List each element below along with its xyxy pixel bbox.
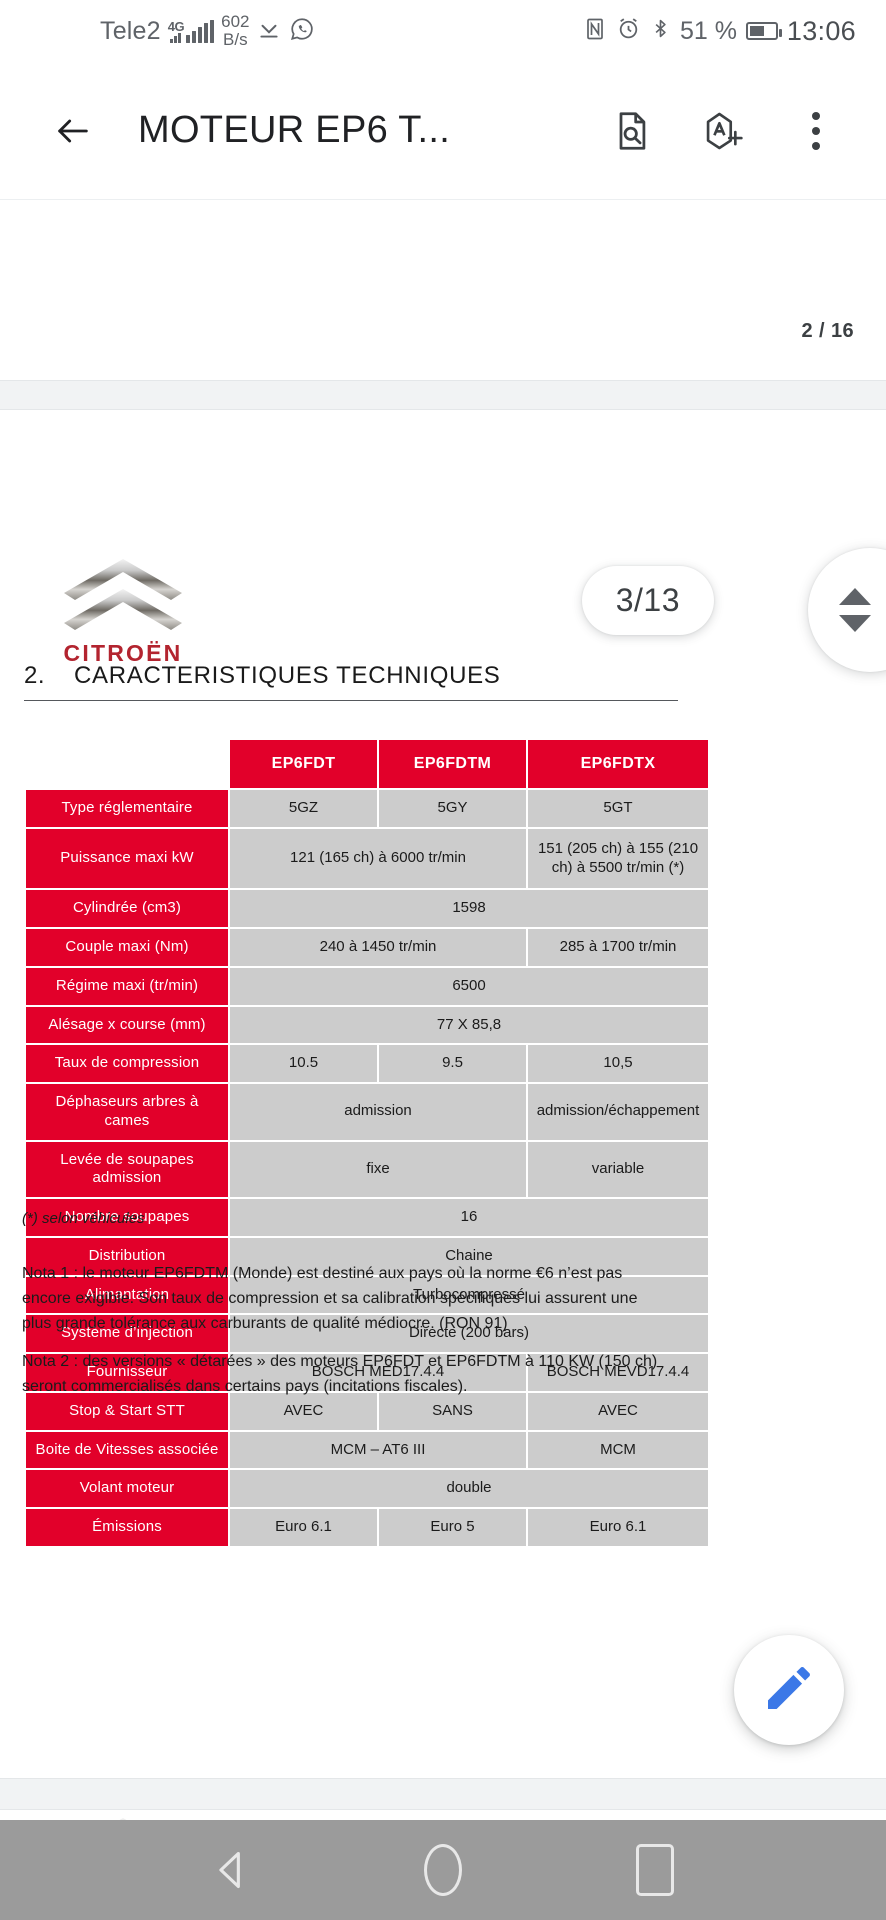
table-header-blank: [26, 740, 228, 788]
nota-1-text: Nota 1 : le moteur EP6FDTM (Monde) est d…: [22, 1262, 662, 1336]
whatsapp-icon: [289, 16, 315, 47]
table-cell: 6500: [230, 968, 708, 1005]
status-bar: Tele2 4G 602 B/s: [0, 0, 886, 62]
page-separator: [0, 380, 886, 410]
nav-back-triangle-icon[interactable]: [201, 1840, 261, 1900]
status-bar-left: Tele2 4G 602 B/s: [100, 13, 315, 49]
table-row: Cylindrée (cm3)1598: [26, 890, 708, 927]
status-bar-right: 51 % 13:06: [583, 15, 856, 47]
table-row-label: Volant moteur: [26, 1470, 228, 1507]
table-footnote: (*) selon véhicules: [22, 1210, 145, 1227]
edit-fab-button[interactable]: [734, 1635, 844, 1745]
page-title: MOTEUR EP6 T...: [138, 109, 606, 152]
table-cell: 240 à 1450 tr/min: [230, 929, 526, 966]
signal-strength-icon: 4G: [168, 20, 214, 43]
pdf-viewer[interactable]: 2 / 16 CITROËN: [0, 200, 886, 1920]
table-cell: admission/échappement: [528, 1084, 708, 1140]
citroen-logo: CITROËN: [58, 555, 188, 667]
table-header-ep6fdtx: EP6FDTX: [528, 740, 708, 788]
network-type-label: 4G: [168, 20, 184, 33]
page-separator-bottom: [0, 1778, 886, 1810]
android-navigation-bar: [0, 1820, 886, 1920]
data-rate-unit: B/s: [223, 31, 248, 49]
table-cell: double: [230, 1470, 708, 1507]
table-cell: admission: [230, 1084, 526, 1140]
bookmark-add-icon[interactable]: [698, 105, 750, 157]
previous-page-tail: 2 / 16: [0, 200, 886, 380]
app-bar-actions: [606, 105, 842, 157]
nav-recents-square-icon[interactable]: [625, 1840, 685, 1900]
bluetooth-icon: [650, 15, 671, 47]
table-cell: MCM: [528, 1432, 708, 1469]
table-cell: Euro 6.1: [528, 1509, 708, 1546]
phone-screen: Tele2 4G 602 B/s: [0, 0, 886, 1920]
document-search-icon[interactable]: [606, 105, 658, 157]
nota-2-text: Nota 2 : des versions « détarées » des m…: [22, 1350, 662, 1400]
app-bar: MOTEUR EP6 T...: [0, 62, 886, 200]
table-cell: 77 X 85,8: [230, 1007, 708, 1044]
table-row-label: Émissions: [26, 1509, 228, 1546]
section-title: CARACTERISTIQUES TECHNIQUES: [74, 662, 501, 690]
table-row: Régime maxi (tr/min)6500: [26, 968, 708, 1005]
battery-percent-label: 51 %: [680, 17, 737, 46]
table-row: Boite de Vitesses associéeMCM – AT6 IIIM…: [26, 1432, 708, 1469]
table-cell: 5GT: [528, 790, 708, 827]
table-cell: variable: [528, 1142, 708, 1198]
table-row-label: Boite de Vitesses associée: [26, 1432, 228, 1469]
table-row-label: Levée de soupapes admission: [26, 1142, 228, 1198]
page-number-badge: 3/13: [582, 566, 714, 635]
table-header-row: EP6FDTEP6FDTMEP6FDTX: [26, 740, 708, 788]
download-icon: [256, 16, 282, 47]
table-row-label: Régime maxi (tr/min): [26, 968, 228, 1005]
previous-page-counter: 2 / 16: [802, 320, 854, 343]
table-row: Puissance maxi kW121 (165 ch) à 6000 tr/…: [26, 829, 708, 889]
overflow-menu-icon[interactable]: [790, 105, 842, 157]
table-cell: 5GY: [379, 790, 526, 827]
section-number: 2.: [24, 662, 74, 690]
table-row-label: Couple maxi (Nm): [26, 929, 228, 966]
carrier-label: Tele2: [100, 17, 161, 46]
section-heading: 2. CARACTERISTIQUES TECHNIQUES: [24, 662, 678, 701]
battery-icon: [746, 22, 778, 40]
edit-pencil-icon: [761, 1660, 817, 1721]
table-row-label: Puissance maxi kW: [26, 829, 228, 889]
nfc-icon: [583, 16, 607, 47]
table-cell: Euro 5: [379, 1509, 526, 1546]
table-row-label: Cylindrée (cm3): [26, 890, 228, 927]
table-header-ep6fdtm: EP6FDTM: [379, 740, 526, 788]
document-page: CITROËN 3/13 2. CARACTERISTIQUES TECHNIQ…: [0, 410, 886, 1710]
table-row: Volant moteurdouble: [26, 1470, 708, 1507]
table-row-label: Type réglementaire: [26, 790, 228, 827]
nav-home-circle-icon[interactable]: [413, 1840, 473, 1900]
chevron-up-icon[interactable]: [839, 588, 871, 605]
table-cell: 16: [230, 1199, 708, 1236]
data-rate-indicator: 602 B/s: [221, 13, 249, 49]
table-row: Taux de compression10.59.510,5: [26, 1045, 708, 1082]
page-nav-control[interactable]: [808, 548, 886, 672]
table-cell: 5GZ: [230, 790, 377, 827]
table-cell: 10,5: [528, 1045, 708, 1082]
alarm-icon: [616, 16, 641, 46]
table-row: Levée de soupapes admissionfixevariable: [26, 1142, 708, 1198]
table-row: Alésage x course (mm)77 X 85,8: [26, 1007, 708, 1044]
table-header-ep6fdt: EP6FDT: [230, 740, 377, 788]
table-cell: Euro 6.1: [230, 1509, 377, 1546]
table-cell: 1598: [230, 890, 708, 927]
table-row: Déphaseurs arbres à camesadmissionadmiss…: [26, 1084, 708, 1140]
table-cell: 285 à 1700 tr/min: [528, 929, 708, 966]
back-arrow-icon[interactable]: [46, 104, 100, 158]
data-rate-value: 602: [221, 13, 249, 31]
clock-label: 13:06: [787, 16, 856, 47]
specifications-table: EP6FDTEP6FDTMEP6FDTX Type réglementaire5…: [24, 738, 710, 1548]
table-cell: MCM – AT6 III: [230, 1432, 526, 1469]
table-body: Type réglementaire5GZ5GY5GTPuissance max…: [26, 790, 708, 1546]
table-cell: 121 (165 ch) à 6000 tr/min: [230, 829, 526, 889]
table-row: Couple maxi (Nm)240 à 1450 tr/min285 à 1…: [26, 929, 708, 966]
table-row-label: Taux de compression: [26, 1045, 228, 1082]
table-row-label: Déphaseurs arbres à cames: [26, 1084, 228, 1140]
table-cell: 10.5: [230, 1045, 377, 1082]
table-cell: fixe: [230, 1142, 526, 1198]
table-row: Type réglementaire5GZ5GY5GT: [26, 790, 708, 827]
table-row: ÉmissionsEuro 6.1Euro 5Euro 6.1: [26, 1509, 708, 1546]
table-cell: 151 (205 ch) à 155 (210 ch) à 5500 tr/mi…: [528, 829, 708, 889]
table-cell: 9.5: [379, 1045, 526, 1082]
chevron-down-icon[interactable]: [839, 615, 871, 632]
table-row-label: Alésage x course (mm): [26, 1007, 228, 1044]
